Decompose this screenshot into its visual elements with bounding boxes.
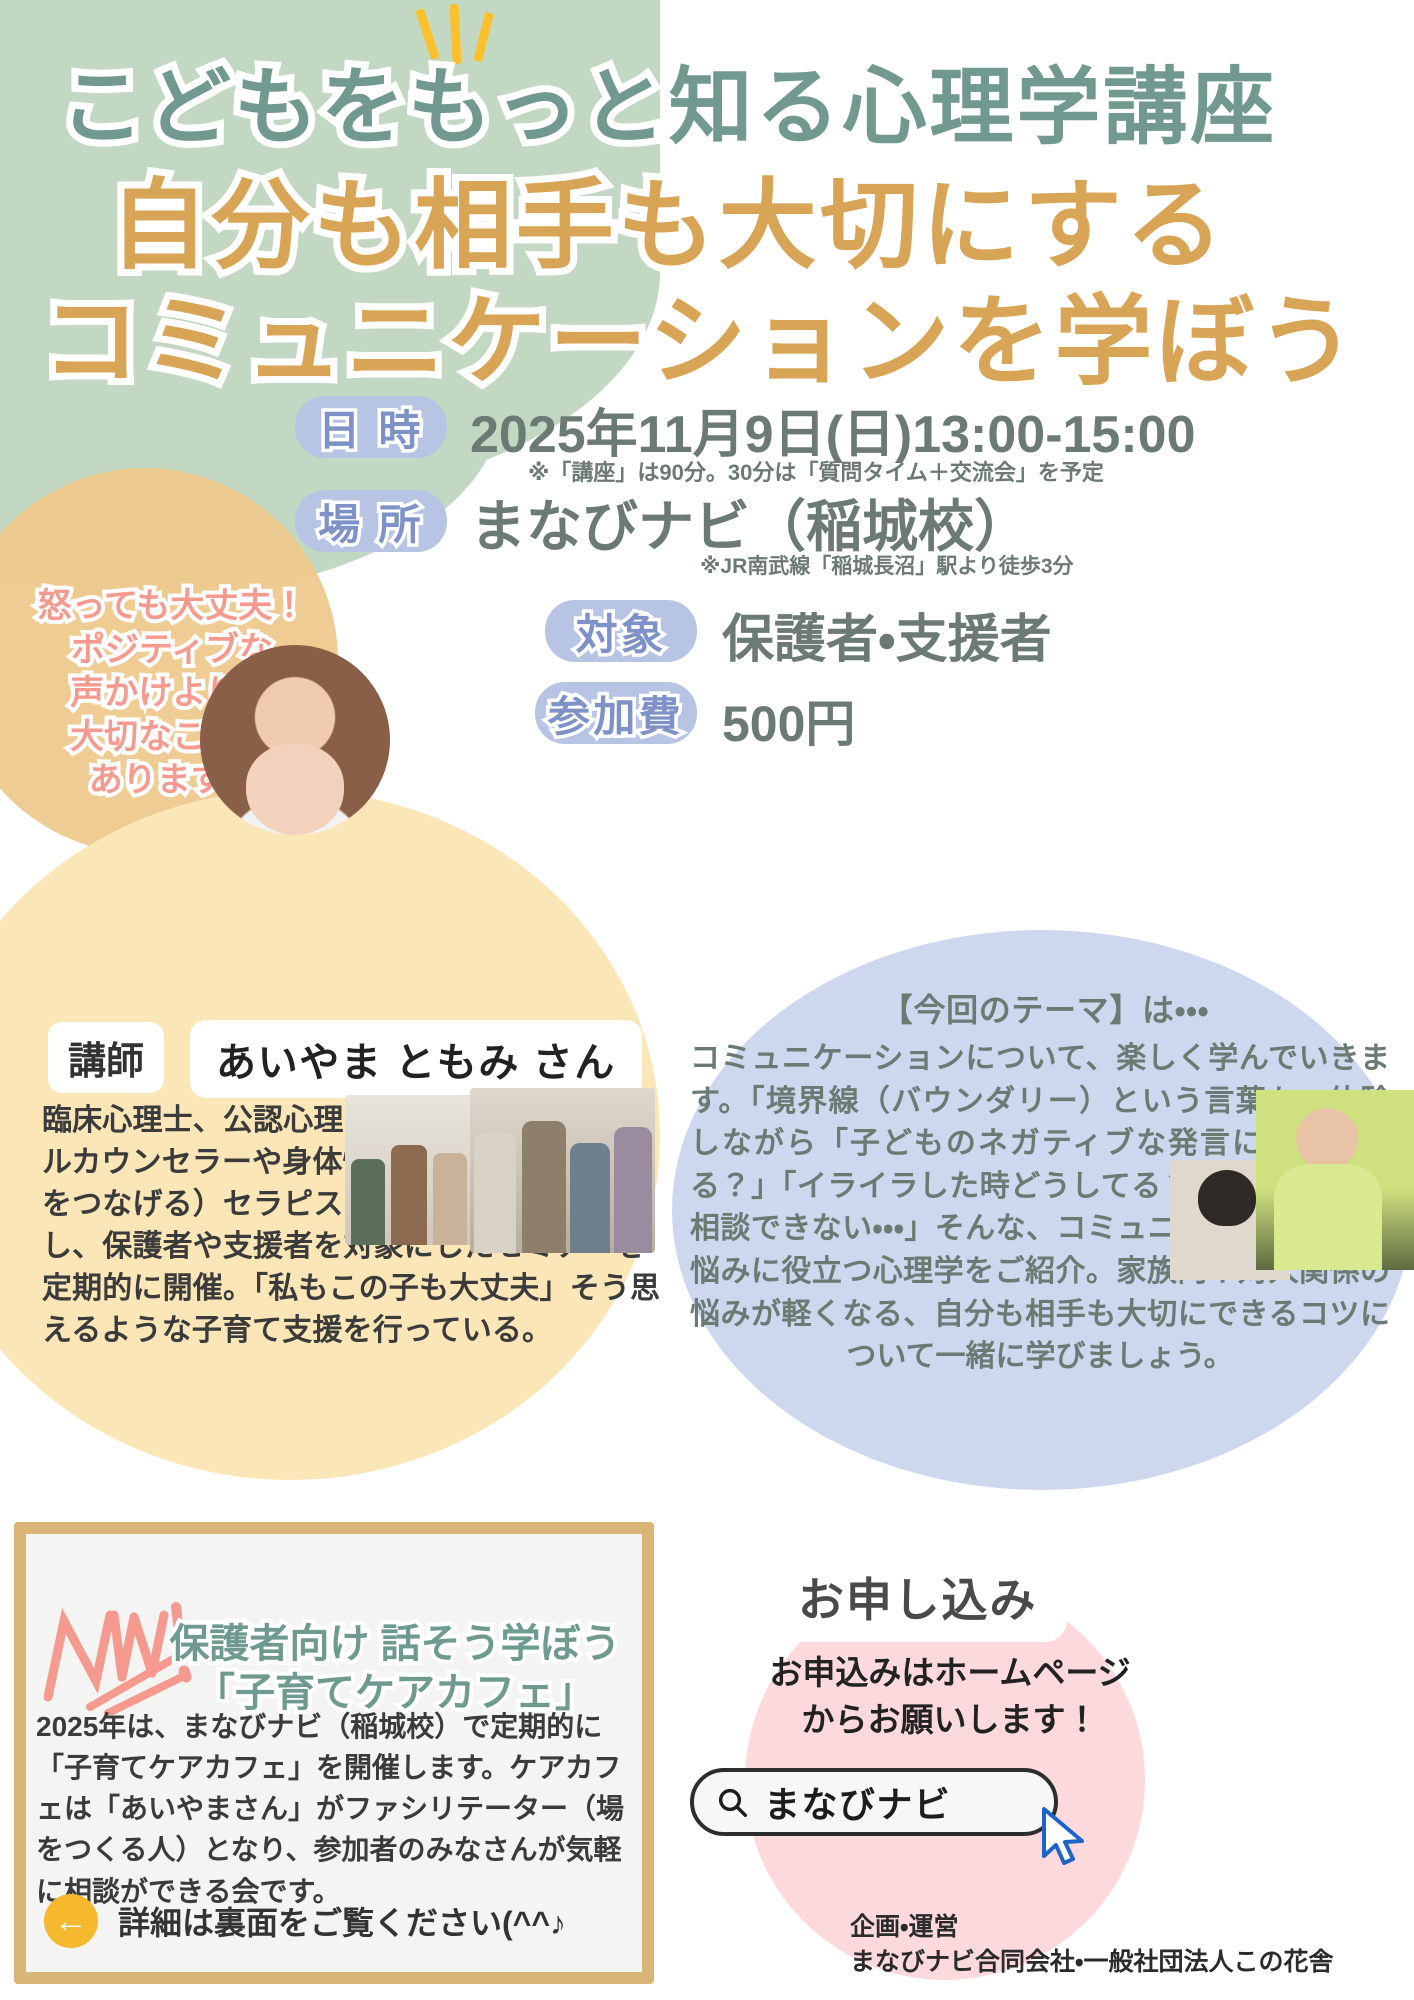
label-target: 対象 [545,600,697,662]
apply-text: お申込みはホームページ からお願いします！ [700,1650,1200,1744]
care-cafe-body: 2025年は、まなびナビ（稲城校）で定期的に「子育てケアカフェ」を開催します。ケ… [36,1706,636,1912]
value-target: 保護者・支援者 [722,597,1052,672]
headline-line-1: こどもをもっと知る心理学講座 [60,40,1277,161]
arrow-left-icon: ← [44,1894,98,1948]
instructor-photo [200,645,390,835]
label-place: 場 所 [295,490,447,552]
organizer-name: まなびナビ合同会社・一般社団法人この花舎 [850,1945,1334,1980]
group-photo-participants [470,1088,655,1253]
search-icon [716,1786,748,1818]
photo-speaker [1256,1090,1414,1270]
headline-line-3: コミュニケーションを学ぼう [42,262,1359,404]
apply-title: お申し込み [768,1552,1067,1642]
instructor-name: あいやま ともみ さん [190,1020,642,1098]
theme-heading: 【今回のテーマ】は・・・ [700,985,1390,1031]
search-keyword-text: まなびナビ [764,1776,951,1828]
poster-root: こどもをもっと知る心理学講座 自分も相手も大切にする コミュニケーションを学ぼう… [0,0,1414,2000]
value-fee: 500円 [722,684,855,756]
care-cafe-cta: 詳細は裏面をご覧ください(^^♪ [118,1898,566,1944]
label-fee: 参加費 [535,682,697,744]
search-keyword-box[interactable]: まなびナビ [690,1768,1058,1836]
organizer-label: 企画・運営 [850,1910,1334,1945]
care-cafe-title-line1: 保護者向け 話そう学ぼう [155,1620,635,1669]
mouse-cursor-icon [1038,1806,1094,1868]
note-place: ※JR南武線「稲城長沼」駅より徒歩3分 [700,550,1074,580]
care-cafe-title: 保護者向け 話そう学ぼう 「子育てケアカフェ」 [155,1620,635,1718]
instructor-tag: 講師 [48,1022,164,1093]
organizer-block: 企画・運営 まなびナビ合同会社・一般社団法人この花舎 [850,1910,1334,1979]
label-datetime: 日 時 [295,396,447,458]
